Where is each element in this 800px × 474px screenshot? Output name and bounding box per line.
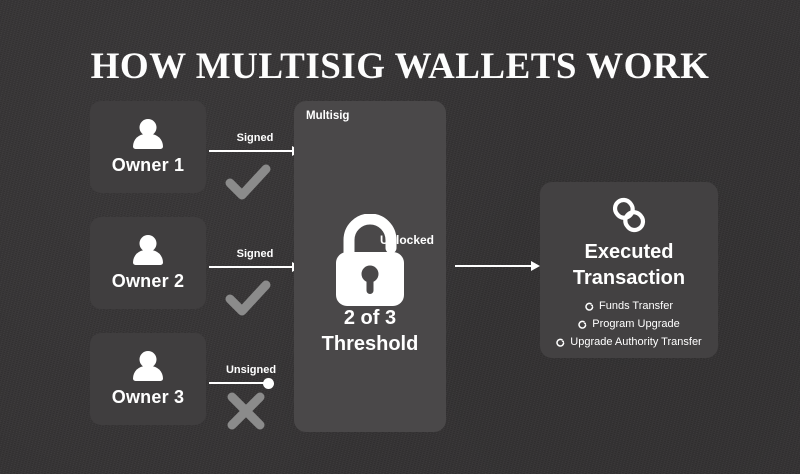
signed-status-label: Signed [209,248,301,260]
lock-state-label: Unlocked [380,233,434,247]
infographic-canvas: HOW MULTISIG WALLETS WORK Owner 1 Signed… [0,0,800,474]
person-body [133,134,163,149]
threshold-line-2: Threshold [294,332,446,358]
multisig-panel: Multisig Unlocked 2 of 3 Threshold [294,101,446,432]
person-icon [131,119,165,151]
executed-title-line-1: Executed [573,239,685,265]
owner-card-1[interactable]: Owner 1 [90,101,206,193]
status-mark-owner-2 [225,279,271,319]
executed-transaction-title: Executed Transaction [573,239,685,291]
threshold-line-1: 2 of 3 [294,306,446,332]
list-item-label: Upgrade Authority Transfer [570,336,701,348]
multisig-panel-label: Multisig [306,110,349,122]
person-body [133,250,163,265]
list-item-label: Funds Transfer [599,300,673,312]
executed-transaction-card[interactable]: Executed Transaction Funds Transfer [540,182,718,358]
unsigned-status-label: Unsigned [205,364,297,376]
person-body [133,366,163,381]
connector-owner-3: Unsigned [209,382,301,384]
check-icon [225,279,271,319]
owner-label: Owner 2 [112,271,184,292]
connector-line [209,382,269,384]
list-item[interactable]: Upgrade Authority Transfer [556,336,701,348]
arrow-head-icon [531,261,540,271]
threshold-text: 2 of 3 Threshold [294,306,446,357]
connector-endpoint-dot-icon [263,378,274,389]
list-item-label: Program Upgrade [592,318,679,330]
chain-link-icon [609,196,649,234]
connector-owner-2: Signed [209,266,301,268]
list-item[interactable]: Funds Transfer [585,300,673,312]
connector-line [455,265,532,267]
connector-line [209,150,295,152]
connector-multisig-to-executed [455,265,540,267]
owner-label: Owner 3 [112,387,184,408]
unlocked-padlock-icon: Unlocked [327,214,413,306]
signed-status-label: Signed [209,132,301,144]
owner-label: Owner 1 [112,155,184,176]
status-mark-owner-3 [225,390,267,432]
circular-arrow-bullet-icon [585,302,594,311]
person-icon [131,351,165,383]
status-mark-owner-1 [225,163,271,203]
check-icon [225,163,271,203]
circular-arrow-bullet-icon [578,320,587,329]
circular-arrow-bullet-icon [556,338,565,347]
list-item[interactable]: Program Upgrade [578,318,679,330]
executed-actions-list: Funds Transfer Program Upgrade [540,300,718,348]
owner-card-3[interactable]: Owner 3 [90,333,206,425]
cross-icon [225,390,267,432]
person-icon [131,235,165,267]
connector-owner-1: Signed [209,150,301,152]
owner-card-2[interactable]: Owner 2 [90,217,206,309]
lock-container: Unlocked [294,214,446,306]
executed-title-line-2: Transaction [573,265,685,291]
page-title: HOW MULTISIG WALLETS WORK [0,45,800,88]
connector-line [209,266,295,268]
